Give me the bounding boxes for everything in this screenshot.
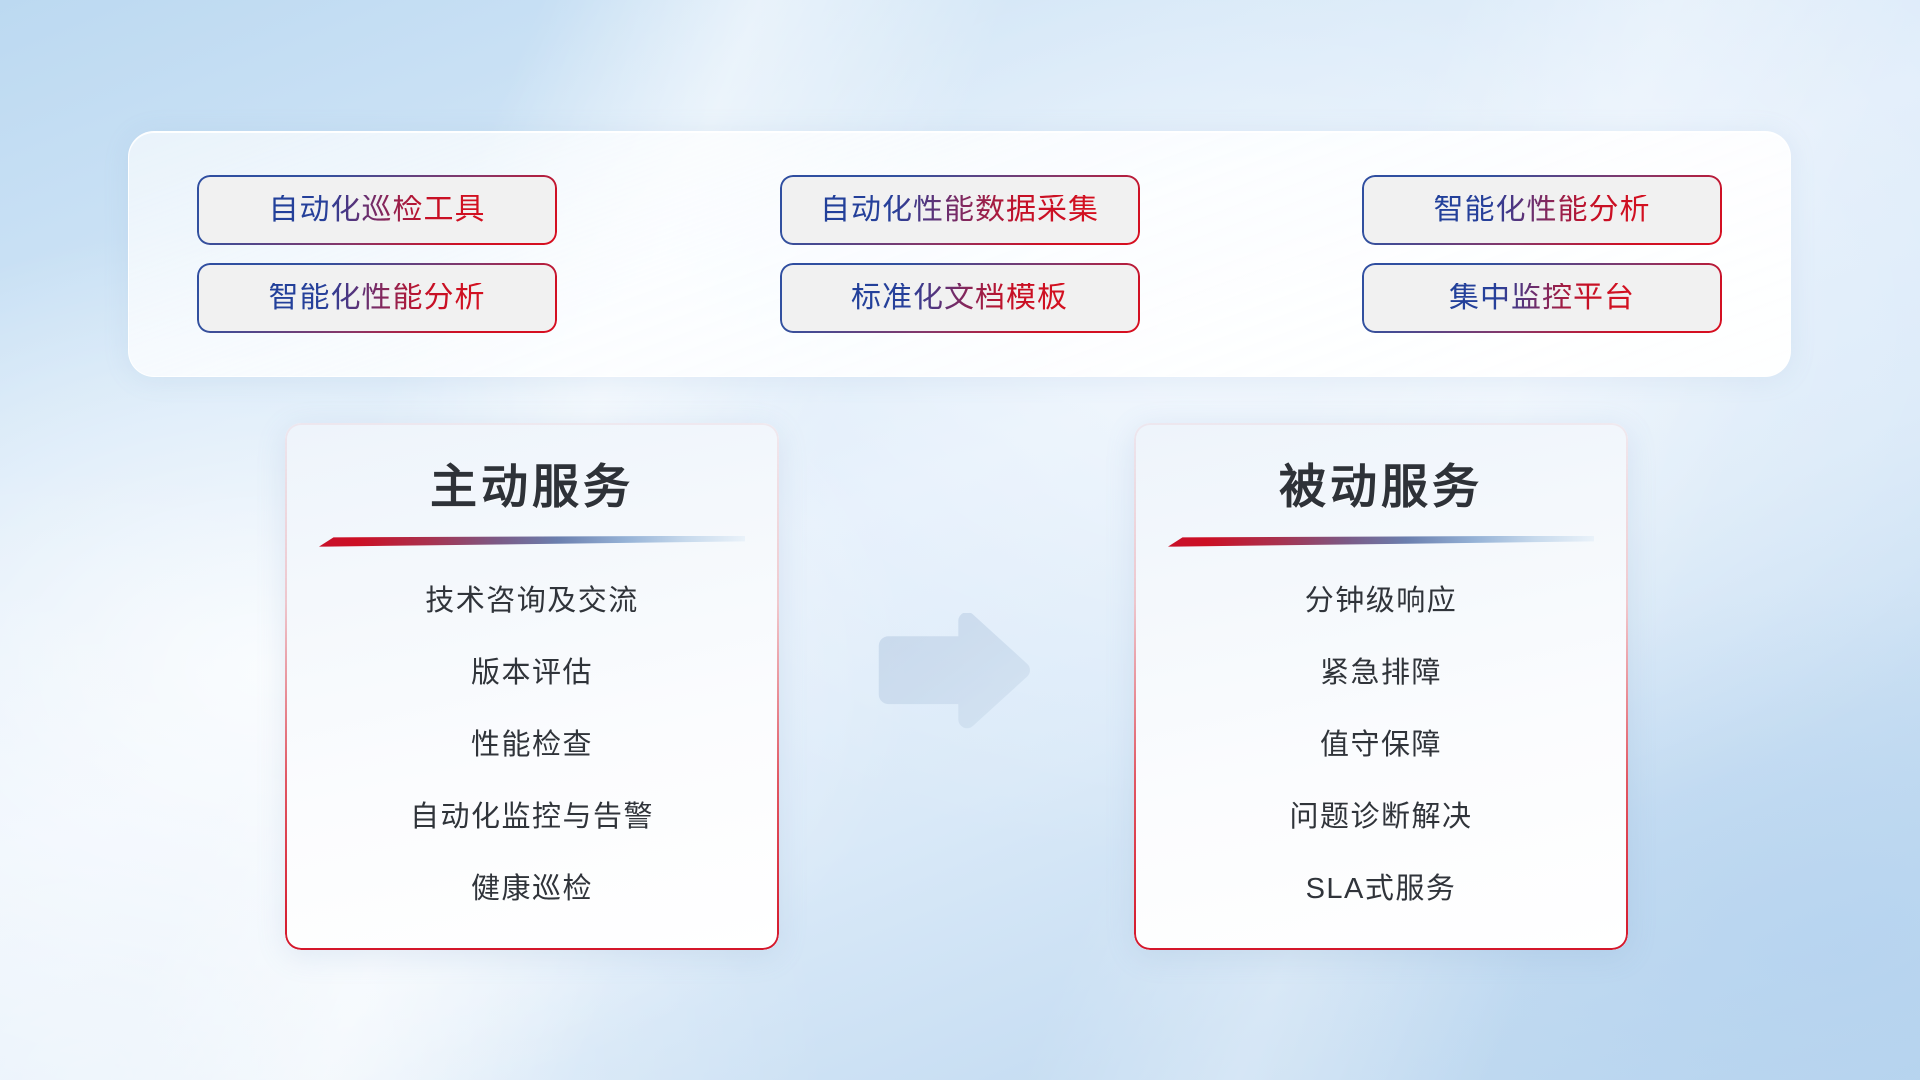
arrow-right-icon: [873, 613, 1043, 733]
service-card-title: 被动服务: [1134, 461, 1628, 514]
capability-tag-label: 智能化性能分析: [1434, 195, 1651, 225]
title-divider: [319, 536, 745, 547]
divider-bar: [319, 536, 745, 547]
list-item: 性能检查: [285, 731, 779, 760]
capability-tag-intelligent-performance-analysis[interactable]: 智能化性能分析: [1364, 177, 1720, 243]
capability-tag-intelligent-performance-analysis-2[interactable]: 智能化性能分析: [199, 265, 555, 331]
list-item: 健康巡检: [285, 875, 779, 904]
capability-tag-label: 标准化文档模板: [851, 283, 1068, 313]
capability-tag-label: 自动化性能数据采集: [820, 195, 1099, 225]
list-item: 版本评估: [285, 659, 779, 688]
capability-row-2: 智能化性能分析 标准化文档模板 集中监控平台: [199, 265, 1720, 331]
service-item-list: 技术咨询及交流 版本评估 性能检查 自动化监控与告警 健康巡检: [285, 587, 779, 904]
divider-bar: [1168, 536, 1594, 547]
slide-canvas: 自动化巡检工具 自动化性能数据采集 智能化性能分析 智能化性能分析 标准化文档模…: [0, 0, 1920, 1080]
service-card-reactive: 被动服务 分钟级响应 紧急排障 值守保障 问题诊断解决 SLA式服务: [1134, 423, 1628, 950]
capability-tag-automated-performance-data-collection[interactable]: 自动化性能数据采集: [782, 177, 1138, 243]
list-item: 技术咨询及交流: [285, 587, 779, 616]
capability-panel: 自动化巡检工具 自动化性能数据采集 智能化性能分析 智能化性能分析 标准化文档模…: [128, 131, 1791, 377]
list-item: 问题诊断解决: [1134, 803, 1628, 832]
capability-tag-centralized-monitoring-platform[interactable]: 集中监控平台: [1364, 265, 1720, 331]
capability-tag-label: 集中监控平台: [1449, 283, 1635, 313]
service-card-proactive: 主动服务 技术咨询及交流 版本评估 性能检查 自动化监控与告警 健康巡检: [285, 423, 779, 950]
capability-row-1: 自动化巡检工具 自动化性能数据采集 智能化性能分析: [199, 177, 1720, 243]
service-card-title: 主动服务: [285, 461, 779, 514]
service-item-list: 分钟级响应 紧急排障 值守保障 问题诊断解决 SLA式服务: [1134, 587, 1628, 904]
capability-tag-label: 自动化巡检工具: [269, 195, 486, 225]
capability-tag-automated-inspection-tool[interactable]: 自动化巡检工具: [199, 177, 555, 243]
list-item: 紧急排障: [1134, 659, 1628, 688]
list-item: 分钟级响应: [1134, 587, 1628, 616]
capability-tag-standardized-document-template[interactable]: 标准化文档模板: [782, 265, 1138, 331]
list-item: 自动化监控与告警: [285, 803, 779, 832]
list-item: SLA式服务: [1134, 875, 1628, 904]
capability-tag-label: 智能化性能分析: [269, 283, 486, 313]
title-divider: [1168, 536, 1594, 547]
list-item: 值守保障: [1134, 731, 1628, 760]
